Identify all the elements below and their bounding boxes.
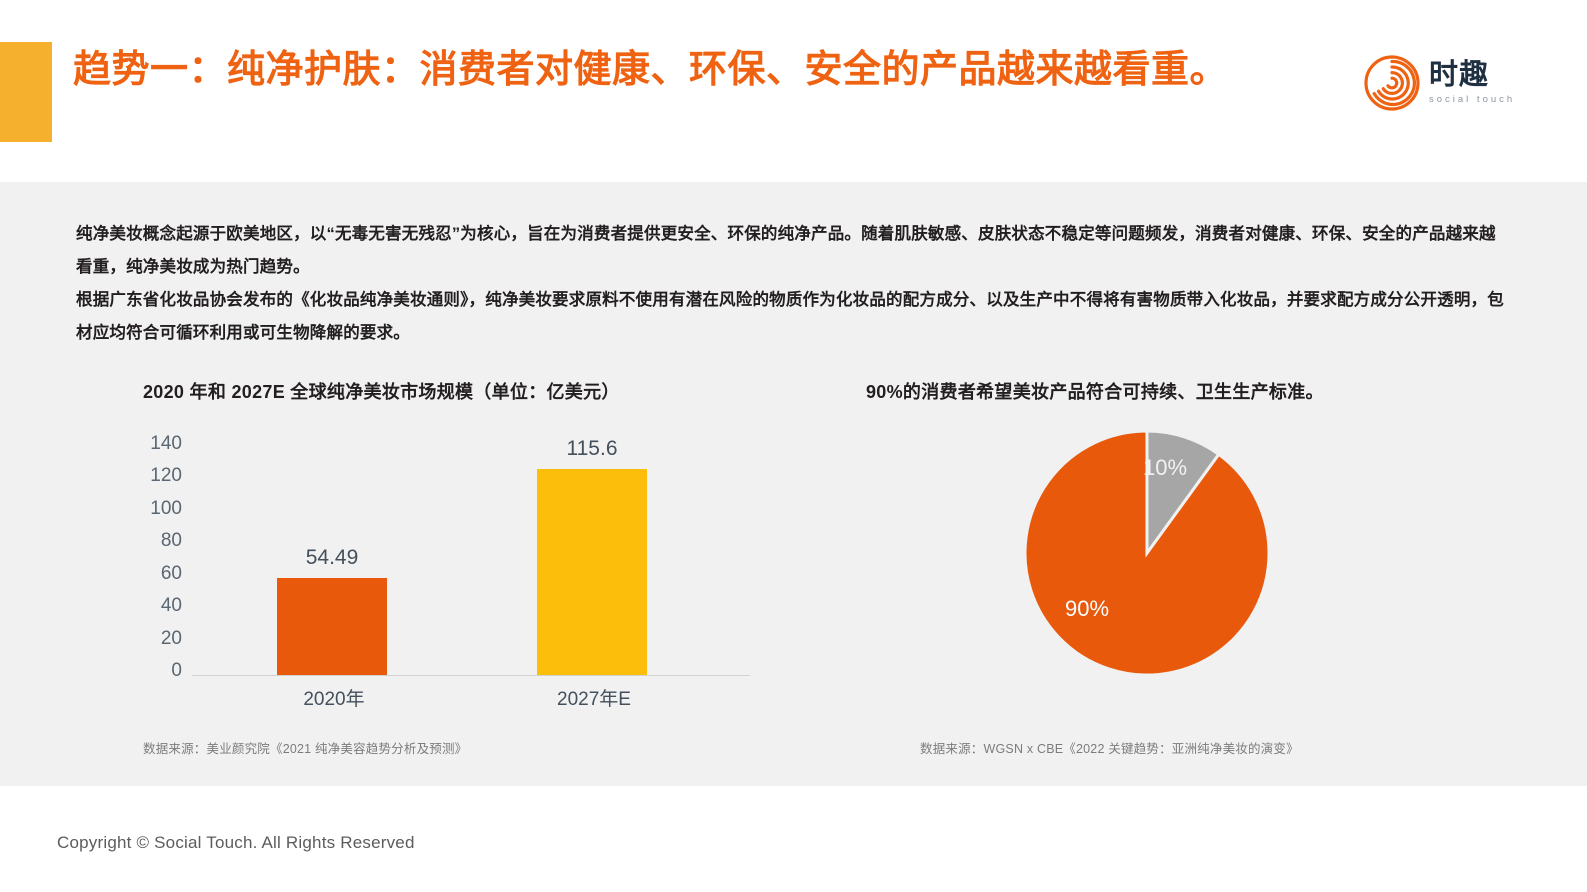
pie-label-minor: 10% [1143,455,1187,481]
y-tick: 100 [150,498,182,520]
x-tick-label: 2027年E [514,684,674,711]
bar-chart-plot-area: 54.49 115.6 2020年 2027年E [192,426,750,676]
accent-bar [0,42,52,142]
bar-chart-source: 数据来源：美业颜究院《2021 纯净美容趋势分析及预测》 [143,738,467,757]
y-tick: 20 [161,628,182,650]
bar-chart-title: 2020 年和 2027E 全球纯净美妆市场规模（单位：亿美元） [143,378,620,404]
logo-name-cn: 时趣 [1429,61,1515,90]
bar-chart: 140 120 100 80 60 40 20 0 54.49 115.6 [130,426,750,716]
pie-chart: 90% 10% [1022,428,1272,678]
slide-footer: Copyright © Social Touch. All Rights Res… [0,786,1587,892]
pie-chart-section: 90%的消费者希望美妆产品符合可持续、卫生生产标准。 90% 10% 数据来源：… [800,378,1587,768]
intro-paragraph-2: 根据广东省化妆品协会发布的《化妆品纯净美妆通则》，纯净美妆要求原料不使用有潜在风… [76,284,1508,350]
logo-wordmark: 时趣 social touch [1429,61,1515,105]
y-tick: 40 [161,595,182,617]
bar-chart-y-axis: 140 120 100 80 60 40 20 0 [130,426,182,676]
intro-text-block: 纯净美妆概念起源于欧美地区，以“无毒无害无残忍”为核心，旨在为消费者提供更安全、… [76,218,1508,350]
logo-name-en: social touch [1429,95,1515,105]
copyright-text: Copyright © Social Touch. All Rights Res… [57,833,415,853]
brand-logo: 时趣 social touch [1364,52,1520,114]
pie-chart-title: 90%的消费者希望美妆产品符合可持续、卫生生产标准。 [866,378,1324,404]
bar-rect[interactable] [537,469,647,675]
bar-chart-section: 2020 年和 2027E 全球纯净美妆市场规模（单位：亿美元） 140 120… [0,378,800,768]
bar-group-2027e: 115.6 [512,426,672,675]
bar-value-label: 54.49 [252,546,412,570]
y-tick: 0 [171,660,182,682]
content-panel: 纯净美妆概念起源于欧美地区，以“无毒无害无残忍”为核心，旨在为消费者提供更安全、… [0,182,1587,786]
intro-paragraph-1: 纯净美妆概念起源于欧美地区，以“无毒无害无残忍”为核心，旨在为消费者提供更安全、… [76,218,1508,284]
spiral-fingerprint-icon [1364,55,1420,111]
y-tick: 140 [150,433,182,455]
page-title: 趋势一：纯净护肤：消费者对健康、环保、安全的产品越来越看重。 [73,44,1323,98]
x-tick-label: 2020年 [254,684,414,711]
y-tick: 120 [150,465,182,487]
bar-group-2020: 54.49 [252,426,412,675]
y-tick: 60 [161,563,182,585]
bar-rect[interactable] [277,578,387,675]
slide-header: 趋势一：纯净护肤：消费者对健康、环保、安全的产品越来越看重。 时趣 social… [0,0,1587,182]
y-tick: 80 [161,530,182,552]
x-axis-line [192,675,750,676]
pie-chart-source: 数据来源：WGSN x CBE《2022 关键趋势：亚洲纯净美妆的演变》 [920,738,1299,757]
bar-value-label: 115.6 [512,437,672,461]
pie-label-major: 90% [1065,596,1109,622]
